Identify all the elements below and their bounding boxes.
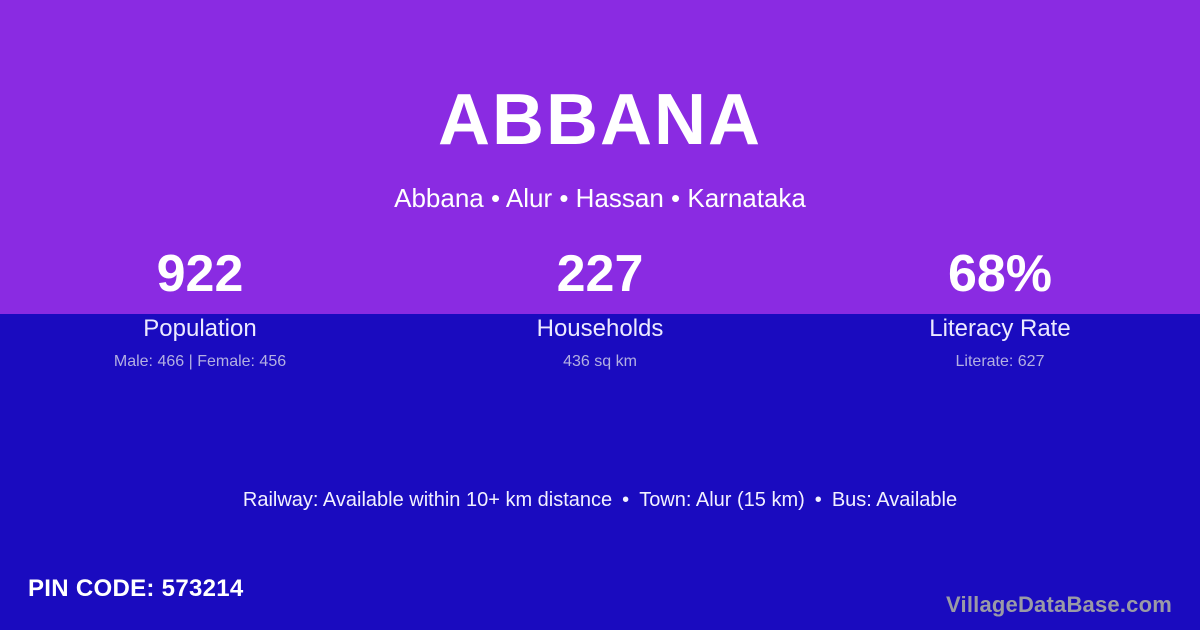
stat-label: Population	[0, 314, 400, 344]
site-brand: VillageDataBase.com	[946, 592, 1172, 618]
stat-sublabel: Literate: 627	[800, 351, 1200, 373]
stat-sublabel: Male: 466 | Female: 456	[0, 351, 400, 373]
facilities-line: Railway: Available within 10+ km distanc…	[0, 486, 1200, 514]
stat-households: 227 Households 436 sq km	[400, 245, 800, 390]
stat-value: 68%	[800, 245, 1200, 303]
stats-row: 922 Population Male: 466 | Female: 456 2…	[0, 245, 1200, 390]
stat-label: Literacy Rate	[800, 314, 1200, 344]
stat-value: 922	[0, 245, 400, 303]
page-title: ABBANA	[0, 84, 1200, 156]
pin-code: PIN CODE: 573214	[28, 575, 244, 603]
village-info-card: ABBANA Abbana • Alur • Hassan • Karnatak…	[0, 0, 1200, 630]
breadcrumb: Abbana • Alur • Hassan • Karnataka	[0, 183, 1200, 214]
stat-sublabel: 436 sq km	[400, 351, 800, 373]
stat-literacy-rate: 68% Literacy Rate Literate: 627	[800, 245, 1200, 390]
facility-town: Town: Alur (15 km)	[639, 489, 805, 511]
stat-population: 922 Population Male: 466 | Female: 456	[0, 245, 400, 390]
footer: PIN CODE: 573214 VillageDataBase.com	[0, 570, 1200, 630]
facility-separator: •	[612, 486, 639, 514]
facility-railway: Railway: Available within 10+ km distanc…	[243, 489, 612, 511]
stat-label: Households	[400, 314, 800, 344]
facility-bus: Bus: Available	[832, 489, 957, 511]
stat-value: 227	[400, 245, 800, 303]
facility-separator: •	[805, 486, 832, 514]
